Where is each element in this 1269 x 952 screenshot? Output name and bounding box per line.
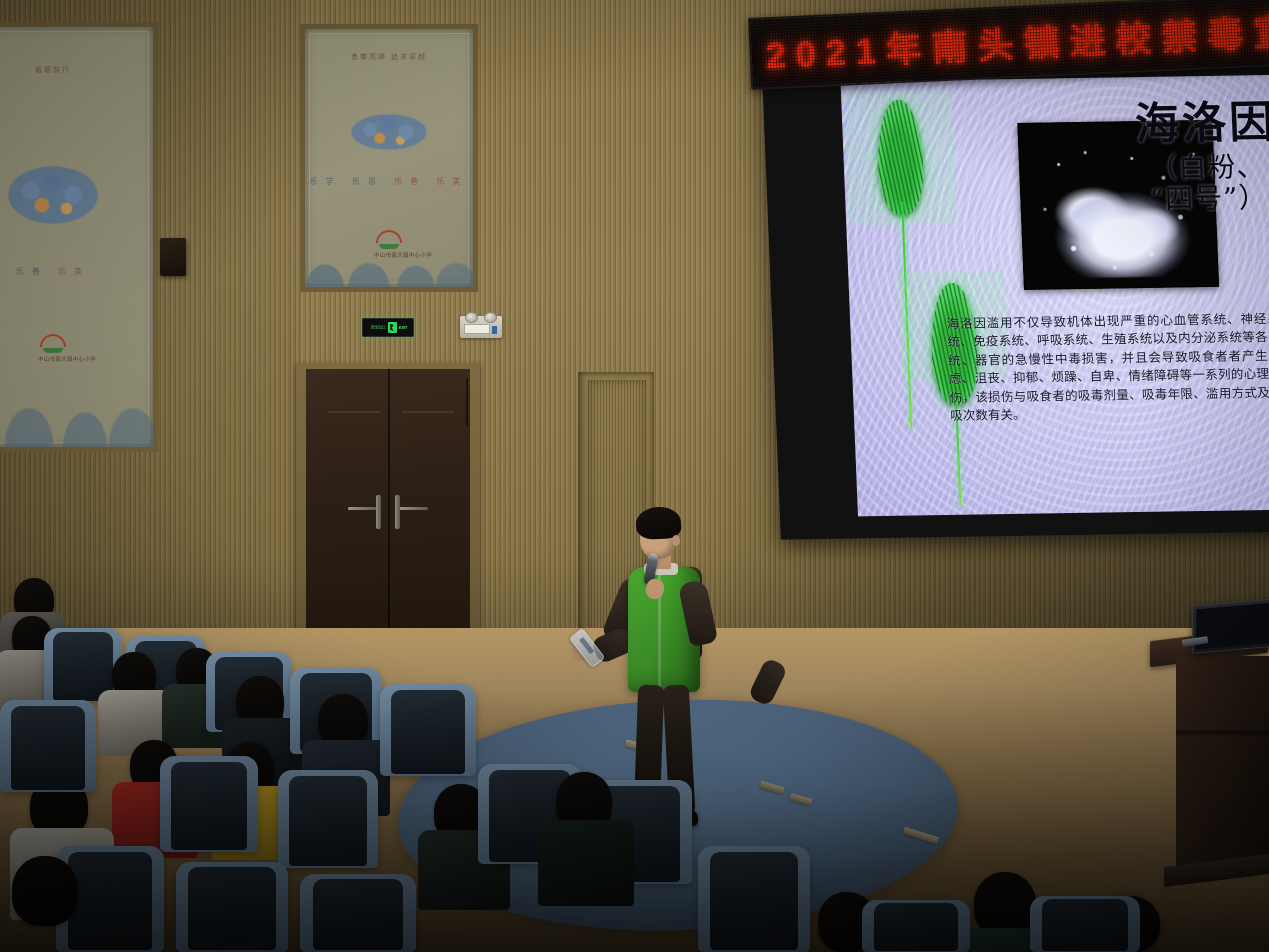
seat[interactable] xyxy=(0,700,96,792)
poster-left-top-text: 砥砺前行 xyxy=(0,65,153,75)
audience-body xyxy=(538,820,634,906)
emergency-light-panel xyxy=(464,324,490,334)
projection-screen: 海洛因 （白粉、 “四号”） 海洛因滥用不仅导致机体出现严重的心血管系统、神经系… xyxy=(762,62,1269,540)
poster-left-mid-text: 乐善 乐美 xyxy=(0,266,153,277)
seat[interactable] xyxy=(1030,896,1140,952)
wall-poster-center: 勇攀高峰 追求卓越 乐学 乐思 乐善 乐美 中山市南头镇中心小学 xyxy=(300,24,478,292)
slide-subtitle-line1: （白粉、 xyxy=(1136,151,1269,185)
wall-speaker-icon xyxy=(160,238,186,276)
poster-center-mid-text: 乐学 乐思 乐善 乐美 xyxy=(305,176,473,187)
podium-laptop[interactable] xyxy=(1192,598,1269,654)
seat[interactable] xyxy=(698,846,810,952)
wave-motif-icon xyxy=(305,246,473,287)
led-banner-text: 2021年南头镇进校禁毒宣 xyxy=(764,3,1269,79)
seat[interactable] xyxy=(300,874,416,952)
emergency-light xyxy=(460,316,502,338)
emergency-lamp-right-icon xyxy=(484,312,497,323)
double-door[interactable] xyxy=(296,363,480,643)
running-man-icon xyxy=(388,322,397,333)
school-name-left: 中山市南头镇中心小学 xyxy=(38,355,68,363)
slide-body-text: 海洛因滥用不仅导致机体出现严重的心血管系统、神经系统、免疫系统、呼吸系统、生殖系… xyxy=(946,310,1269,426)
emergency-light-indicator xyxy=(492,326,497,334)
logo-base-icon xyxy=(43,348,63,353)
seat[interactable] xyxy=(278,770,378,868)
presenter-ear xyxy=(672,535,680,546)
slide-subtitle-line2: “四号”） xyxy=(1138,182,1269,216)
logo-arc-icon xyxy=(376,230,402,243)
seat[interactable] xyxy=(160,756,258,852)
cloud-motif-icon xyxy=(0,153,109,237)
slide-title-text: 海洛因 xyxy=(1134,101,1269,147)
wall-poster-left: 砥砺前行 乐善 乐美 中山市南头镇中心小学 xyxy=(0,22,158,452)
wall-cable xyxy=(466,378,468,426)
audience-head xyxy=(12,856,78,926)
auditorium-scene: 砥砺前行 乐善 乐美 中山市南头镇中心小学 勇攀高峰 追求卓越 乐学 乐思 乐善… xyxy=(0,0,1269,952)
door-handle-right[interactable] xyxy=(395,495,400,529)
wave-motif-icon xyxy=(0,380,153,447)
cloud-motif-icon xyxy=(342,106,436,158)
lectern xyxy=(1164,634,1269,894)
door-panels[interactable] xyxy=(306,369,470,641)
seat[interactable] xyxy=(862,900,970,952)
seat[interactable] xyxy=(176,862,288,952)
exit-sign-en-label: EXIT xyxy=(398,325,406,330)
seat[interactable] xyxy=(380,684,476,776)
door-handle-left[interactable] xyxy=(376,495,381,529)
exit-sign: 安全出口 EXIT xyxy=(362,318,414,337)
slide-title-block: 海洛因 （白粉、 “四号”） xyxy=(1134,101,1269,216)
exit-sign-cn-label: 安全出口 xyxy=(370,325,384,331)
school-logo-left: 中山市南头镇中心小学 xyxy=(38,334,68,363)
poster-center-top-text: 勇攀高峰 追求卓越 xyxy=(305,52,473,62)
door-push-bar-right[interactable] xyxy=(398,507,428,510)
door-push-bar-left[interactable] xyxy=(348,507,378,510)
lectern-body xyxy=(1176,656,1269,866)
logo-arc-icon xyxy=(40,334,66,347)
slide-surface: 海洛因 （白粉、 “四号”） 海洛因滥用不仅导致机体出现严重的心血管系统、神经系… xyxy=(841,75,1269,517)
emergency-lamp-left-icon xyxy=(465,312,478,323)
